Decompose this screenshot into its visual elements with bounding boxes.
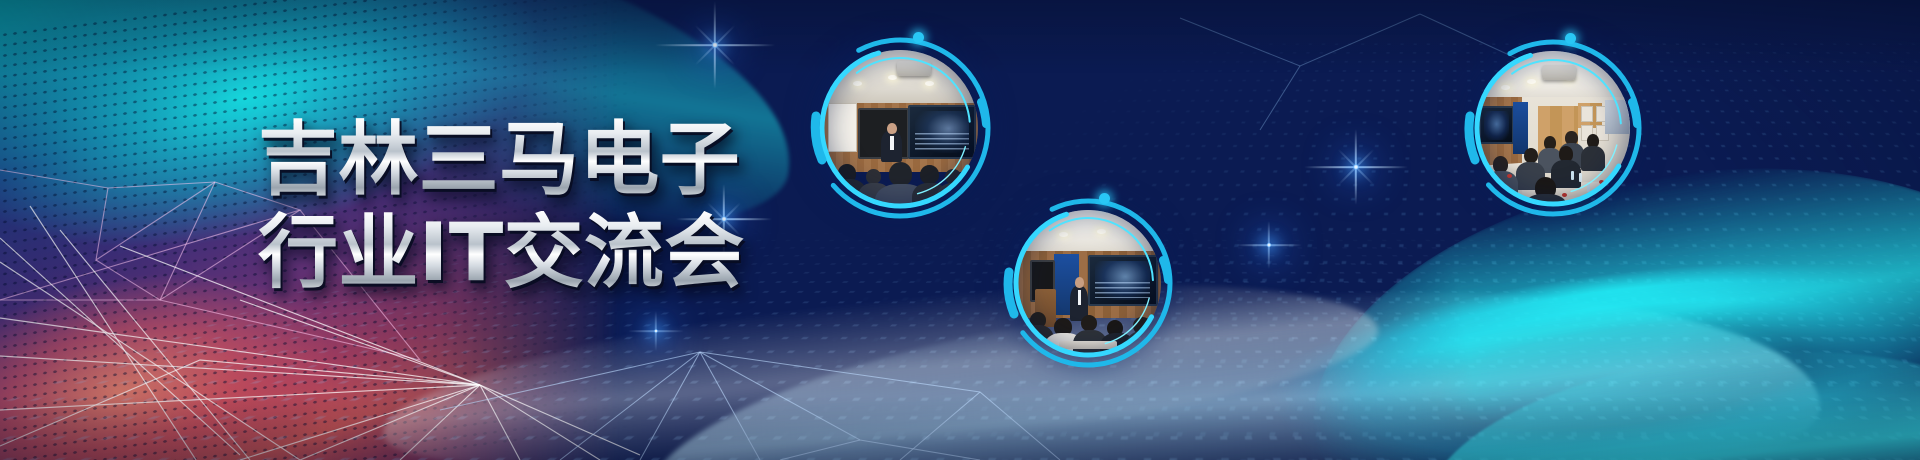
headline-line-1: 吉林三马电子 [258, 118, 745, 201]
photo-seminar-bottom[interactable] [995, 190, 1181, 376]
photo-meeting-right[interactable] [1455, 30, 1651, 226]
photo-ring-endcap [1099, 193, 1110, 204]
headline-line-2: 行业IT交流会 [258, 211, 745, 294]
banner-root: 吉林三马电子 行业IT交流会 [0, 0, 1920, 460]
photo-ring-frame [800, 28, 1000, 228]
photo-ring-endcap [1565, 33, 1576, 44]
photo-ring-frame [995, 190, 1181, 376]
photo-presentation-left[interactable] [800, 28, 1000, 228]
photo-ring-frame [1455, 30, 1651, 226]
photo-ring-endcap [913, 32, 924, 43]
headline-block: 吉林三马电子 行业IT交流会 [258, 118, 745, 294]
